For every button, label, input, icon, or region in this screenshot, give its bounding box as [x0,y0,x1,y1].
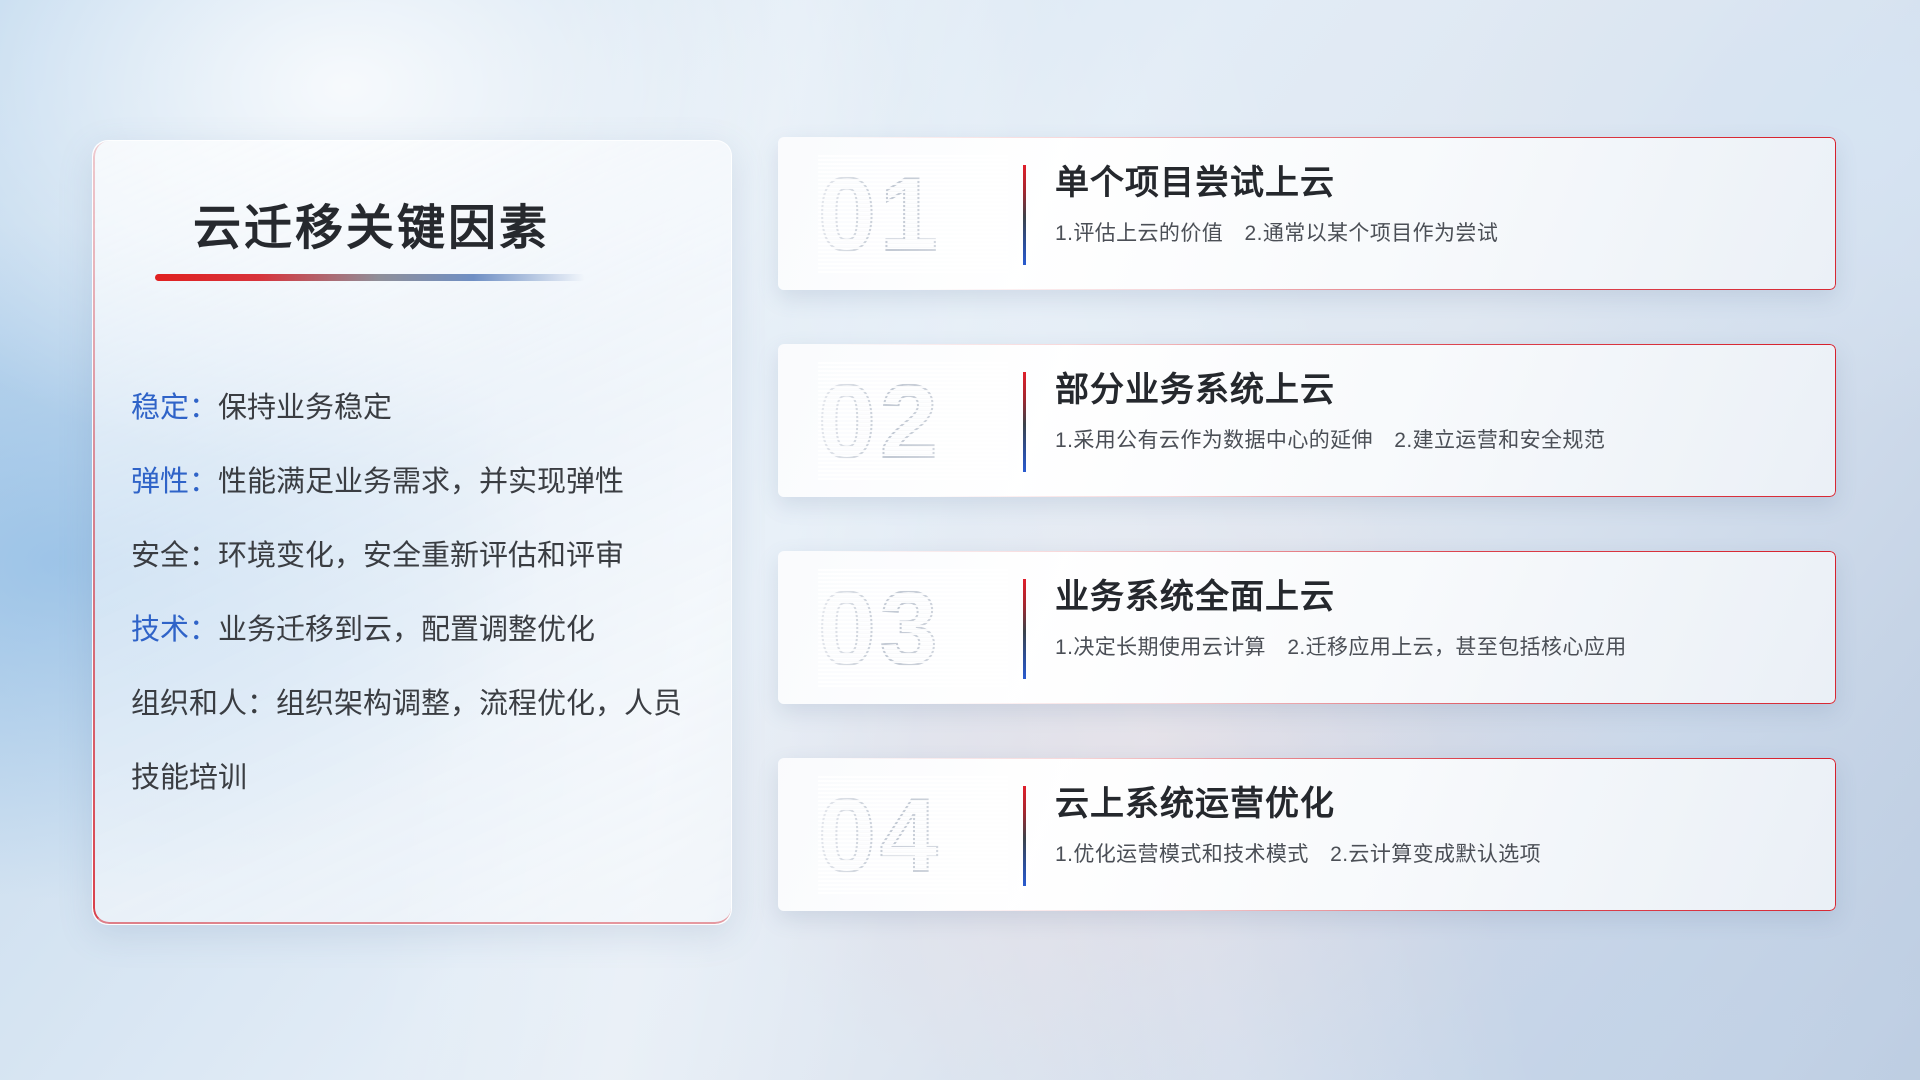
migration-steps-list: 01 单个项目尝试上云 1.评估上云的价值 2.通常以某个项目作为尝试 02 部… [778,137,1836,965]
step-subtitle: 1.评估上云的价值 2.通常以某个项目作为尝试 [1055,219,1812,249]
step-number: 04 [818,776,1008,896]
factor-row: 组织和人：组织架构调整，流程优化，人员技能培训 [131,667,705,815]
factor-row: 安全：环境变化，安全重新评估和评审 [131,519,705,593]
factor-row: 弹性：性能满足业务需求，并实现弹性 [131,445,705,519]
step-divider-bar [1023,786,1026,886]
title-underline-rule [155,274,585,281]
factor-text: 业务迁移到云，配置调整优化 [218,614,595,646]
step-subtitle: 1.决定长期使用云计算 2.迁移应用上云，甚至包括核心应用 [1055,633,1812,663]
page-title: 云迁移关键因素 [193,188,550,258]
factor-text: 性能满足业务需求，并实现弹性 [218,466,624,498]
step-card[interactable]: 04 云上系统运营优化 1.优化运营模式和技术模式 2.云计算变成默认选项 [778,758,1836,911]
factor-label: 安全： [131,540,218,572]
step-title: 部分业务系统上云 [1055,366,1812,414]
step-card[interactable]: 03 业务系统全面上云 1.决定长期使用云计算 2.迁移应用上云，甚至包括核心应… [778,551,1836,704]
factor-label: 弹性： [131,466,218,498]
step-divider-bar [1023,165,1026,265]
step-body: 部分业务系统上云 1.采用公有云作为数据中心的延伸 2.建立运营和安全规范 [1055,366,1812,456]
step-divider-bar [1023,372,1026,472]
step-number: 03 [818,569,1008,689]
step-body: 业务系统全面上云 1.决定长期使用云计算 2.迁移应用上云，甚至包括核心应用 [1055,573,1812,663]
step-divider-bar [1023,579,1026,679]
step-title: 业务系统全面上云 [1055,573,1812,621]
step-body: 云上系统运营优化 1.优化运营模式和技术模式 2.云计算变成默认选项 [1055,780,1812,870]
step-body: 单个项目尝试上云 1.评估上云的价值 2.通常以某个项目作为尝试 [1055,159,1812,249]
factor-label: 技术： [131,614,218,646]
key-factors-panel: 云迁移关键因素 稳定：保持业务稳定 弹性：性能满足业务需求，并实现弹性 安全：环… [92,140,732,925]
step-card[interactable]: 02 部分业务系统上云 1.采用公有云作为数据中心的延伸 2.建立运营和安全规范 [778,344,1836,497]
step-subtitle: 1.优化运营模式和技术模式 2.云计算变成默认选项 [1055,840,1812,870]
factor-list: 稳定：保持业务稳定 弹性：性能满足业务需求，并实现弹性 安全：环境变化，安全重新… [131,371,705,815]
step-number: 01 [818,155,1008,275]
step-subtitle: 1.采用公有云作为数据中心的延伸 2.建立运营和安全规范 [1055,426,1812,456]
factor-text: 环境变化，安全重新评估和评审 [218,540,624,572]
factor-row: 技术：业务迁移到云，配置调整优化 [131,593,705,667]
step-card[interactable]: 01 单个项目尝试上云 1.评估上云的价值 2.通常以某个项目作为尝试 [778,137,1836,290]
step-title: 单个项目尝试上云 [1055,159,1812,207]
slide-canvas: 云迁移关键因素 稳定：保持业务稳定 弹性：性能满足业务需求，并实现弹性 安全：环… [0,0,1920,1080]
step-title: 云上系统运营优化 [1055,780,1812,828]
factor-label: 稳定： [131,392,218,424]
factor-text: 保持业务稳定 [218,392,392,424]
factor-row: 稳定：保持业务稳定 [131,371,705,445]
step-number: 02 [818,362,1008,482]
factor-label: 组织和人： [131,688,276,720]
